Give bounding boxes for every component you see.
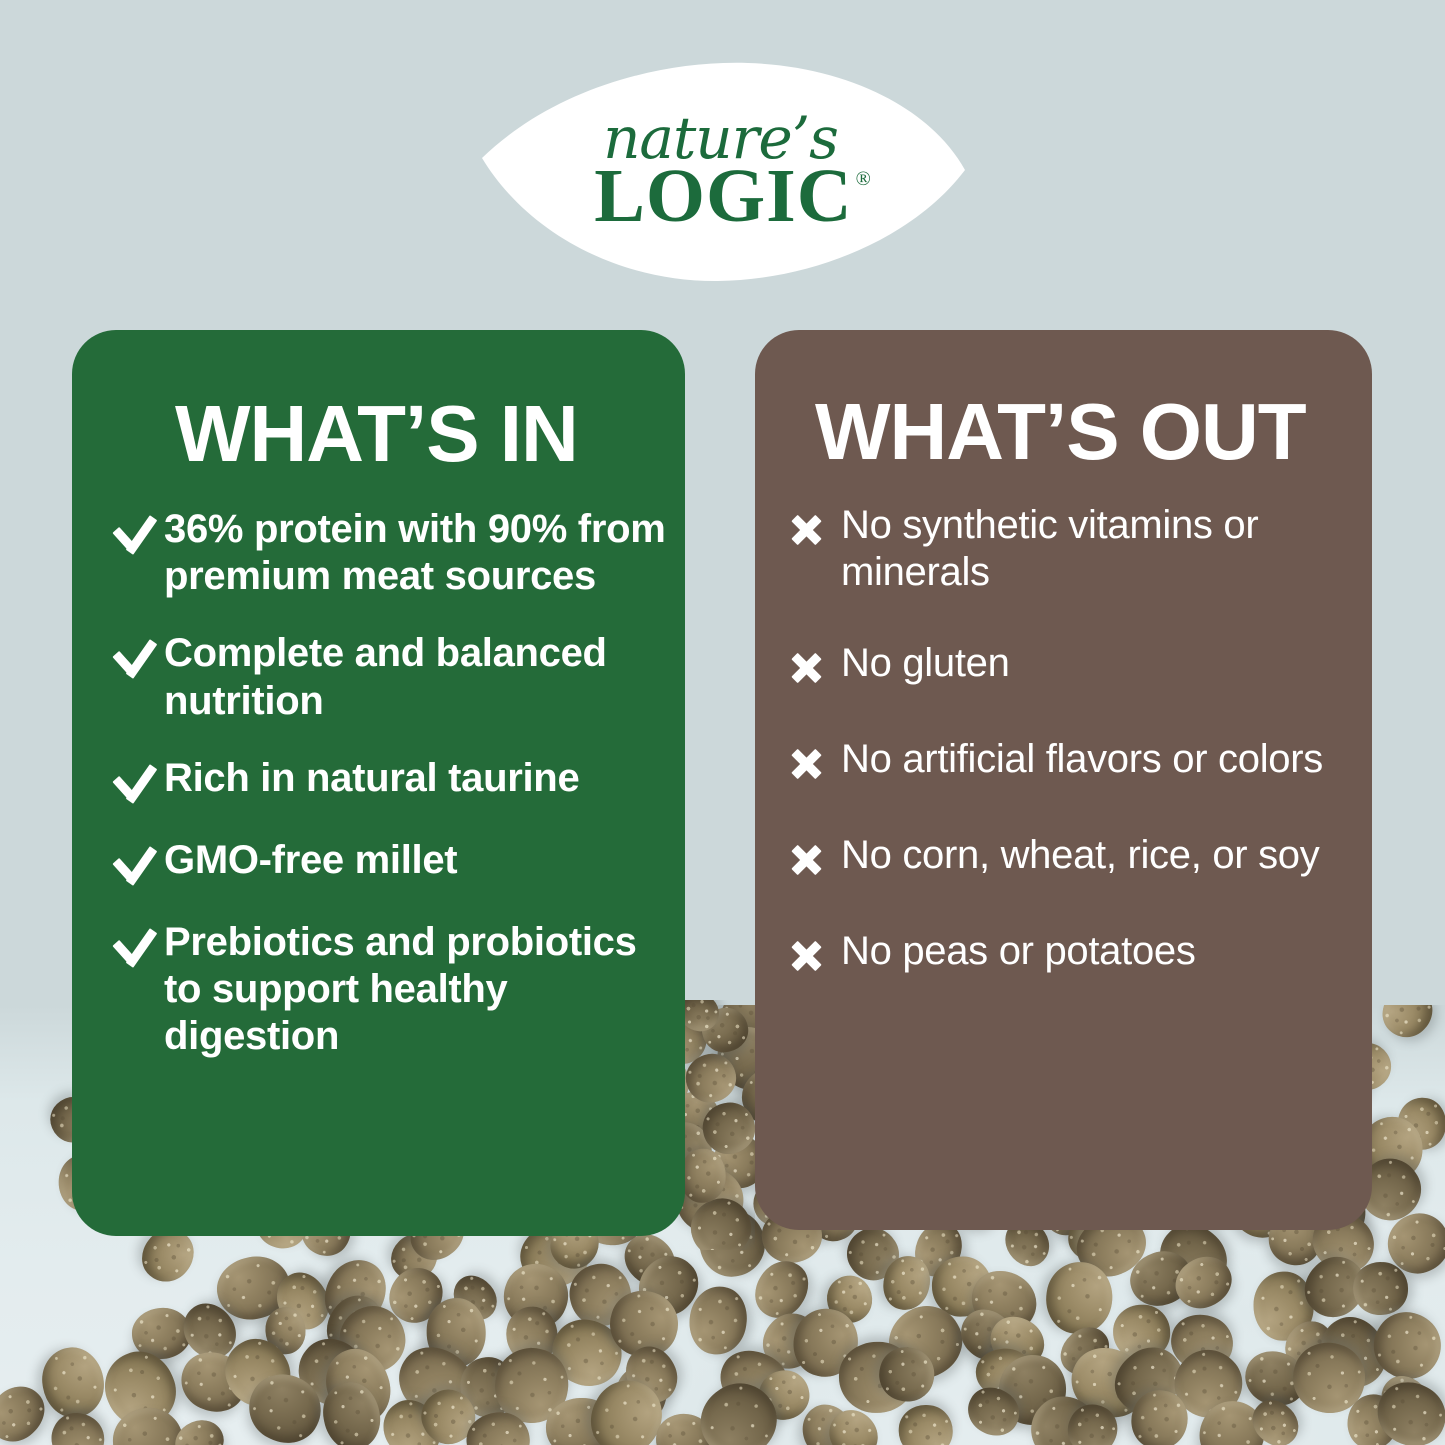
list-item: No synthetic vitamins or minerals (785, 502, 1358, 596)
list-item: No corn, wheat, rice, or soy (785, 832, 1358, 884)
product-benefits-graphic: nature’s LOGIC ® WHAT’S IN 36% protein w… (0, 0, 1445, 1445)
check-icon (108, 512, 164, 558)
list-item-label: No artificial flavors or colors (841, 736, 1323, 783)
panel-whats-in-title: WHAT’S IN (175, 394, 578, 474)
leaf-shape-icon (480, 62, 967, 282)
list-item: Complete and balanced nutrition (108, 630, 671, 724)
x-icon (785, 508, 841, 554)
list-item-label: No synthetic vitamins or minerals (841, 502, 1341, 596)
whats-in-list: 36% protein with 90% from premium meat s… (72, 506, 685, 1090)
list-item: GMO-free millet (108, 837, 671, 889)
list-item-label: GMO-free millet (164, 837, 457, 884)
x-icon (785, 742, 841, 788)
panel-whats-out-title: WHAT’S OUT (815, 392, 1306, 472)
list-item-label: No gluten (841, 640, 1010, 687)
check-icon (108, 843, 164, 889)
list-item: 36% protein with 90% from premium meat s… (108, 506, 671, 600)
kibble-piece (685, 1047, 742, 1109)
whats-out-list: No synthetic vitamins or minerals No glu… (755, 502, 1372, 1024)
x-icon (785, 838, 841, 884)
list-item: No gluten (785, 640, 1358, 692)
list-item: No peas or potatoes (785, 928, 1358, 980)
check-icon (108, 636, 164, 682)
panel-whats-in: WHAT’S IN 36% protein with 90% from prem… (72, 330, 685, 1236)
list-item-label: Complete and balanced nutrition (164, 630, 671, 724)
list-item-label: Rich in natural taurine (164, 755, 579, 802)
check-icon (108, 761, 164, 807)
list-item: No artificial flavors or colors (785, 736, 1358, 788)
list-item: Rich in natural taurine (108, 755, 671, 807)
list-item-label: 36% protein with 90% from premium meat s… (164, 506, 671, 600)
check-icon (108, 925, 164, 971)
list-item-label: No corn, wheat, rice, or soy (841, 832, 1319, 879)
x-icon (785, 934, 841, 980)
list-item-label: No peas or potatoes (841, 928, 1196, 975)
kibble-gap-group (685, 1000, 755, 1250)
list-item-label: Prebiotics and probiotics to support hea… (164, 919, 671, 1061)
brand-logo: nature’s LOGIC ® (480, 62, 967, 282)
kibble-piece (685, 1149, 726, 1203)
list-item: Prebiotics and probiotics to support hea… (108, 919, 671, 1061)
panel-whats-out: WHAT’S OUT No synthetic vitamins or mine… (755, 330, 1372, 1230)
x-icon (785, 646, 841, 692)
